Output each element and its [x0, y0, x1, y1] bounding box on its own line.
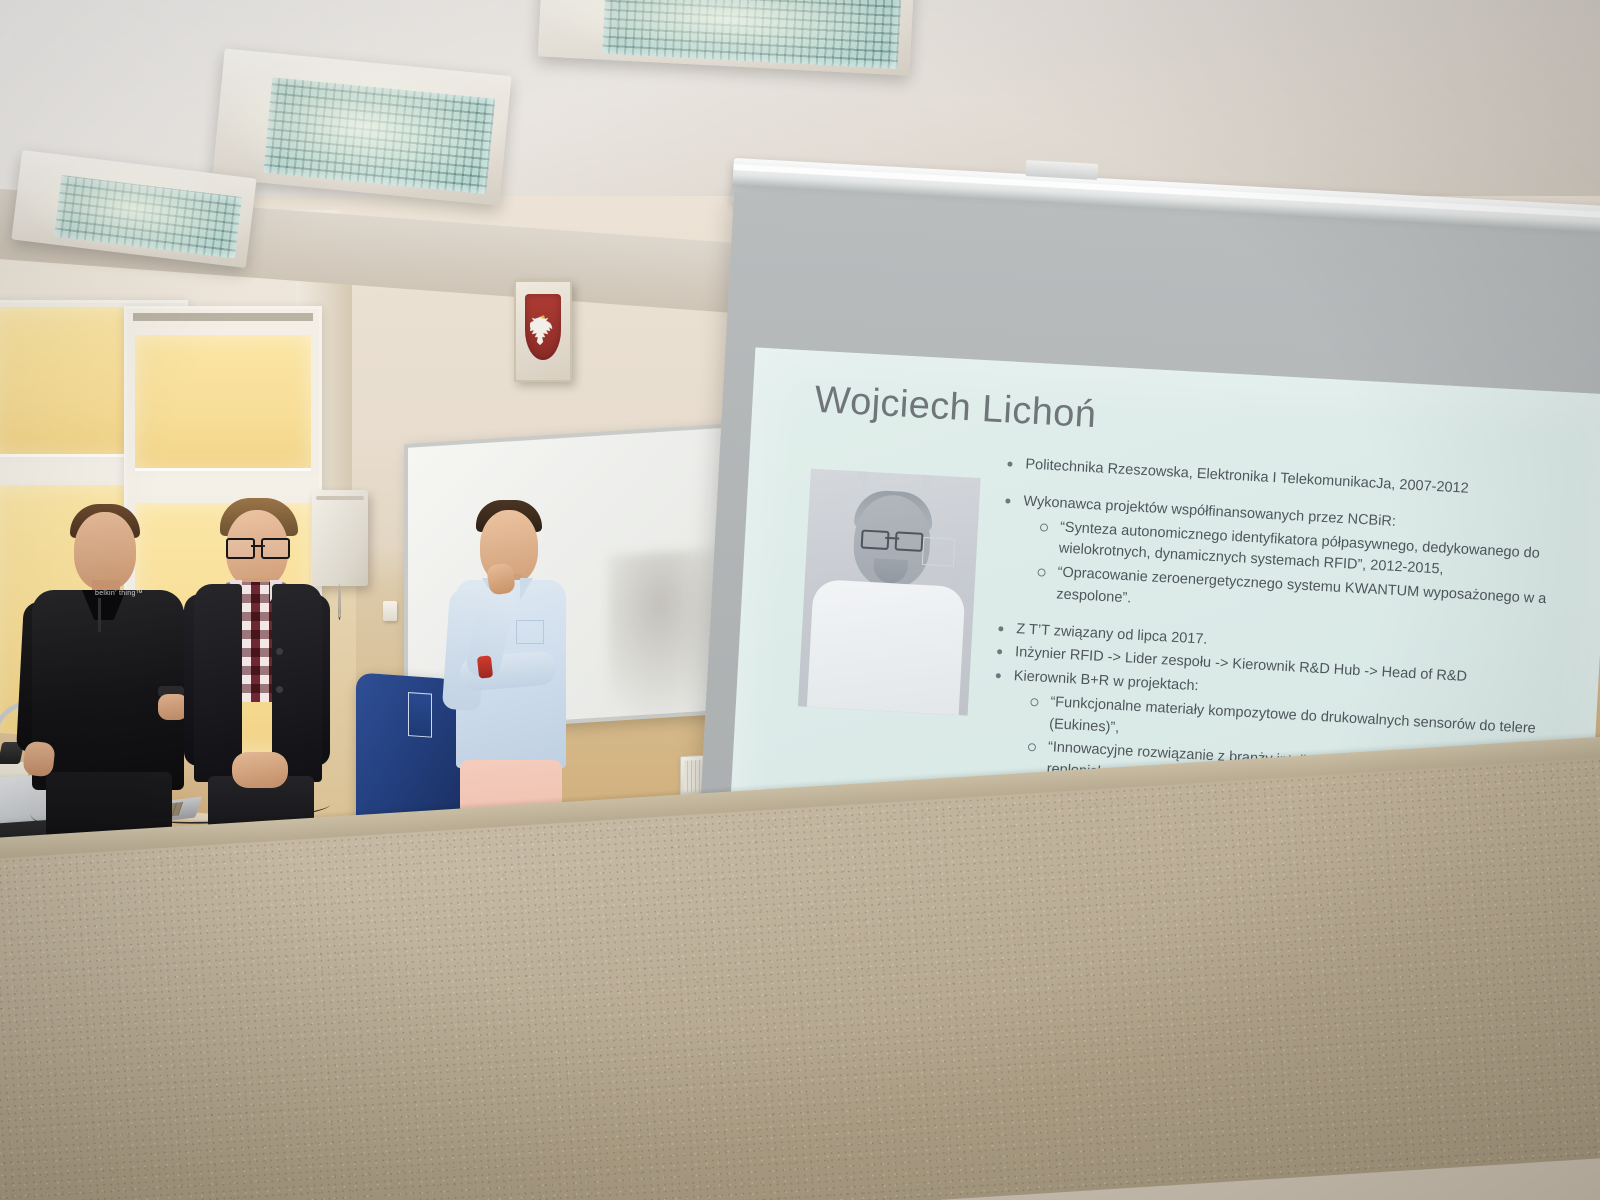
- chair-logo-tag: [408, 692, 432, 738]
- shirt-pocket: [516, 620, 544, 644]
- hand-left: [22, 741, 55, 778]
- cardigan-button: [276, 648, 283, 655]
- portrait-collar-left: [855, 471, 868, 498]
- polo-placket: [98, 598, 101, 632]
- portrait-glasses-icon: [861, 530, 924, 548]
- ceiling-light-fixture: [212, 48, 511, 205]
- cardigan-right-panel: [272, 584, 322, 782]
- portrait-collar-right: [921, 475, 934, 502]
- clasped-hands: [232, 752, 288, 788]
- classroom-photo: Wojciech Lichoń Politechnika Rzeszowska,…: [0, 0, 1600, 1200]
- polish-coat-of-arms-frame: [514, 280, 572, 382]
- slide-title: Wojciech Lichoń: [813, 379, 1097, 437]
- polo-chest-logo: belkin' thing™: [88, 588, 150, 600]
- white-eagle-icon: [530, 313, 556, 353]
- portrait-shirt: [807, 579, 966, 715]
- eyeglasses-icon: [226, 538, 290, 555]
- cardigan-left-panel: [194, 584, 242, 782]
- cardigan-button: [276, 686, 283, 693]
- red-wristwatch: [477, 655, 493, 678]
- light-switch[interactable]: [383, 601, 397, 621]
- head: [74, 512, 136, 590]
- slide-portrait-photo: [798, 469, 981, 716]
- portrait-shirt-pocket: [922, 537, 955, 567]
- person-middle: [176, 490, 366, 840]
- shirt-collar-right: [520, 578, 533, 600]
- screen-mount-bracket: [1025, 160, 1098, 180]
- hand-at-chin: [486, 562, 516, 595]
